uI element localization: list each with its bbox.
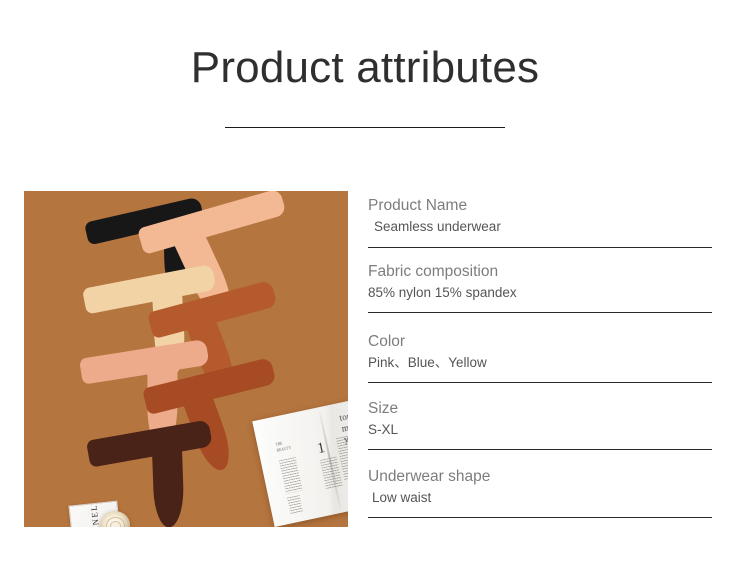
attribute-row-product-name: Product Name Seamless underwear: [368, 193, 712, 248]
page-title: Product attributes: [0, 40, 730, 96]
book-text-column: [279, 457, 303, 494]
attribute-row-fabric-composition: Fabric composition 85% nylon 15% spandex: [368, 248, 712, 313]
book-text-column: [320, 457, 343, 490]
attribute-label: Product Name: [368, 193, 712, 217]
attribute-value: Pink、Blue、Yellow: [368, 353, 712, 382]
book-headline-line-1: top beau: [338, 406, 348, 423]
underwear-waistband: [137, 191, 287, 255]
attribute-row-color: Color Pink、Blue、Yellow: [368, 313, 712, 383]
attribute-label: Size: [368, 396, 712, 420]
book-small-line-1: THE: [275, 442, 283, 447]
fabric-rose-prop: [100, 511, 130, 527]
product-attributes-list: Product Name Seamless underwear Fabric c…: [368, 193, 712, 518]
attribute-row-size: Size S-XL: [368, 383, 712, 450]
product-photo: top beau model o years THE BEAUTY 1: [24, 191, 348, 527]
book-text-column: [287, 495, 303, 515]
title-underline-rule: [225, 127, 505, 128]
attribute-value: Low waist: [368, 488, 712, 517]
attribute-value: 85% nylon 15% spandex: [368, 283, 712, 312]
underwear-gusset: [152, 447, 185, 527]
attribute-label: Color: [368, 329, 712, 353]
attribute-value: S-XL: [368, 420, 712, 449]
attribute-label: Fabric composition: [368, 259, 712, 283]
attribute-label: Underwear shape: [368, 464, 712, 488]
attribute-value: Seamless underwear: [368, 217, 712, 247]
open-book-prop: top beau model o years THE BEAUTY 1: [252, 393, 348, 527]
book-small-line-2: BEAUTY: [277, 446, 292, 453]
attribute-row-underwear-shape: Underwear shape Low waist: [368, 450, 712, 518]
